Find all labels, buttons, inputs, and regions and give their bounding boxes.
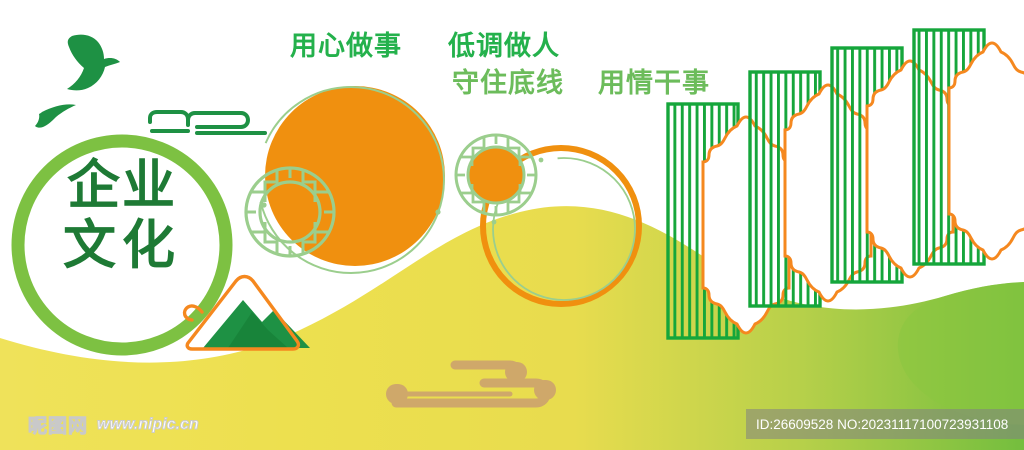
- swallow-small: [35, 104, 76, 127]
- badge-title-line-1: 企业: [18, 158, 226, 214]
- badge-title: 企业 文化: [18, 158, 226, 274]
- watermark-logo: 昵图网: [28, 411, 88, 438]
- slogan-4: 用情干事: [598, 61, 710, 100]
- badge-title-line-2: 文化: [18, 218, 226, 274]
- slogan-1: 用心做事: [290, 24, 402, 63]
- slogan-3: 守住底线: [452, 61, 564, 100]
- watermark-id-text: ID:26609528 NO:20231117100723931108: [746, 417, 1008, 432]
- watermark-id-bar: ID:26609528 NO:20231117100723931108: [746, 409, 1024, 439]
- culture-wall-poster: 企业 文化 用心做事 低调做人 守住底线 用情干事 昵图网 www.nipic.…: [0, 0, 1024, 450]
- orange-disc-large: [265, 86, 445, 266]
- cloud-motif-top-left: [150, 112, 265, 133]
- panel-4: [914, 30, 1024, 264]
- slogan-2: 低调做人: [448, 24, 560, 63]
- orange-disc-large-group: [258, 86, 445, 273]
- watermark-left: 昵图网 www.nipic.cn: [28, 411, 199, 438]
- watermark-url: www.nipic.cn: [97, 416, 199, 434]
- swallow-large: [67, 35, 120, 91]
